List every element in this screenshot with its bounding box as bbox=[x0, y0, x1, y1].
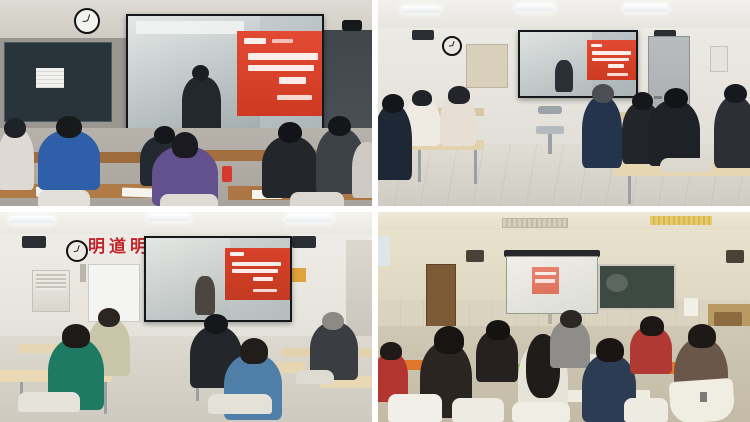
pulldown-projection-screen bbox=[506, 256, 598, 314]
chair-front-left bbox=[18, 392, 80, 412]
slide-date-line bbox=[253, 289, 277, 292]
ceiling-light-1 bbox=[10, 216, 54, 223]
chair-1 bbox=[388, 394, 442, 422]
attendee-head-beige bbox=[98, 308, 120, 327]
attendee-head-center bbox=[204, 314, 228, 334]
wall-poster-left bbox=[378, 236, 390, 266]
chair-front-1 bbox=[38, 190, 90, 206]
attendee-hair-green bbox=[62, 324, 90, 348]
slide-title-line-2 bbox=[248, 65, 314, 71]
ceiling bbox=[378, 0, 750, 30]
slide-room-photo bbox=[146, 238, 230, 320]
banner-char-1: 明 bbox=[88, 238, 105, 255]
handout-paper-2 bbox=[122, 187, 154, 197]
chair-3 bbox=[512, 402, 570, 422]
attendee-dark-far-right bbox=[714, 96, 750, 168]
attendee-dark-right-2 bbox=[648, 100, 700, 166]
photo-bottom-left: 明 道 明 bbox=[0, 212, 372, 422]
vacant-chair-leg bbox=[548, 134, 552, 154]
photo-bottom-right bbox=[378, 212, 750, 422]
slide-date-line bbox=[277, 95, 312, 100]
screen-center-post bbox=[548, 314, 552, 324]
wall-notice-board bbox=[466, 44, 508, 88]
chair-2 bbox=[452, 398, 504, 422]
attendee-navy-center bbox=[582, 96, 622, 168]
wall-clock-icon bbox=[66, 240, 88, 262]
presenter-silhouette bbox=[195, 276, 215, 315]
attendee-hair-2 bbox=[448, 86, 470, 104]
vacant-chair-seat bbox=[536, 126, 564, 134]
student-hair-purple bbox=[172, 132, 198, 158]
attendee-head-dark-2 bbox=[664, 88, 688, 108]
jacket-tag-icon bbox=[700, 392, 707, 402]
ac-vent-lines bbox=[36, 274, 66, 290]
presenter-silhouette bbox=[555, 60, 574, 92]
student-head-left bbox=[4, 118, 26, 138]
desk-leg-3 bbox=[628, 176, 631, 204]
ceiling-vent-right bbox=[650, 216, 712, 225]
slide-room-light bbox=[136, 21, 245, 34]
student-head-blue bbox=[56, 116, 82, 138]
student-hair-brown bbox=[688, 324, 716, 348]
student-hair-navy bbox=[596, 338, 624, 362]
slide-title-line-2 bbox=[592, 58, 629, 62]
chair-front-3 bbox=[290, 192, 344, 206]
slide-logo-sub bbox=[272, 39, 293, 43]
slide-title-line-1 bbox=[592, 51, 631, 55]
chair-right bbox=[296, 370, 334, 384]
door-handle-icon bbox=[654, 96, 662, 99]
student-white-edge bbox=[352, 142, 372, 198]
slide-title-line-3 bbox=[279, 77, 306, 83]
slide-title-line-1 bbox=[248, 53, 318, 59]
student-hair-2 bbox=[486, 320, 510, 340]
ceiling-light-3 bbox=[286, 214, 332, 222]
slide-date-line bbox=[607, 73, 628, 76]
attendee-navy-left bbox=[378, 104, 412, 180]
slide-title-line-1 bbox=[535, 272, 557, 276]
student-hair-1 bbox=[434, 326, 464, 354]
photo-top-left bbox=[0, 0, 372, 206]
wall-speaker-right bbox=[292, 236, 316, 248]
wall-speaker-left bbox=[466, 250, 484, 262]
wall-clock-icon bbox=[442, 36, 462, 56]
attendee-head-grey bbox=[322, 312, 344, 330]
attendee-head-navy-left bbox=[382, 94, 404, 113]
student-hair-red-back bbox=[640, 316, 664, 336]
desk-leg-2 bbox=[474, 150, 477, 184]
photo-top-right bbox=[378, 0, 750, 206]
ceiling-light-2 bbox=[148, 214, 190, 221]
desk-leg-1 bbox=[418, 150, 421, 182]
student-dark-coat-right bbox=[262, 136, 318, 198]
slide-title-line-2 bbox=[535, 279, 555, 283]
desk-leg-2 bbox=[104, 382, 107, 414]
ceiling-light-2 bbox=[516, 4, 554, 11]
attendee-head-far-right bbox=[724, 84, 747, 103]
calligraphy-banner: 明 道 明 bbox=[88, 238, 147, 255]
slide-title-line-1 bbox=[232, 262, 281, 266]
vacant-chair bbox=[538, 106, 562, 114]
wall-plate bbox=[710, 46, 728, 72]
wall-paper-note bbox=[684, 298, 698, 316]
chair-4 bbox=[624, 398, 668, 422]
ceiling-light-1 bbox=[402, 6, 440, 13]
chair-front-right bbox=[660, 158, 712, 172]
ceiling-projector-icon bbox=[80, 264, 86, 282]
slide-red-panel bbox=[237, 31, 322, 115]
slide-logo-mark bbox=[244, 38, 265, 44]
slide-logo-mark bbox=[230, 252, 244, 256]
student-head-right bbox=[278, 122, 302, 143]
cabinet-item bbox=[714, 312, 742, 326]
slide-title-line-3 bbox=[608, 64, 624, 68]
chair-front-center bbox=[208, 394, 272, 414]
student-hair-red-left bbox=[380, 342, 402, 360]
student-head-far-right bbox=[328, 116, 351, 136]
slide-title-line-3 bbox=[253, 277, 273, 281]
attendee-head-navy-center bbox=[592, 84, 614, 103]
ceiling-light-3 bbox=[624, 4, 668, 12]
projection-screen bbox=[518, 30, 638, 98]
banner-char-2: 道 bbox=[109, 238, 126, 255]
wall-clock-icon bbox=[74, 8, 100, 34]
blackboard-glare bbox=[606, 274, 628, 292]
student-head-grey-back bbox=[560, 310, 582, 328]
wall-speaker-left bbox=[22, 236, 46, 248]
ceiling-camera-icon bbox=[342, 20, 362, 31]
photo-collage: 明 道 明 bbox=[0, 0, 750, 422]
red-thermos-cup bbox=[222, 166, 232, 182]
student-blue-jacket bbox=[38, 130, 100, 190]
attendee-hair-1 bbox=[412, 90, 432, 106]
posted-notice-sheet bbox=[36, 68, 64, 88]
chair-front-2 bbox=[160, 194, 218, 206]
ceiling-vent bbox=[502, 218, 568, 228]
attendee-head-dark-1 bbox=[632, 92, 653, 110]
slide-logo-mark bbox=[591, 44, 603, 48]
wall-speaker-right bbox=[726, 250, 744, 263]
slide-title-line-2 bbox=[232, 269, 278, 273]
wall-speaker-left bbox=[412, 30, 434, 40]
projection-screen bbox=[144, 236, 292, 322]
attendee-hair-blue bbox=[240, 338, 268, 364]
